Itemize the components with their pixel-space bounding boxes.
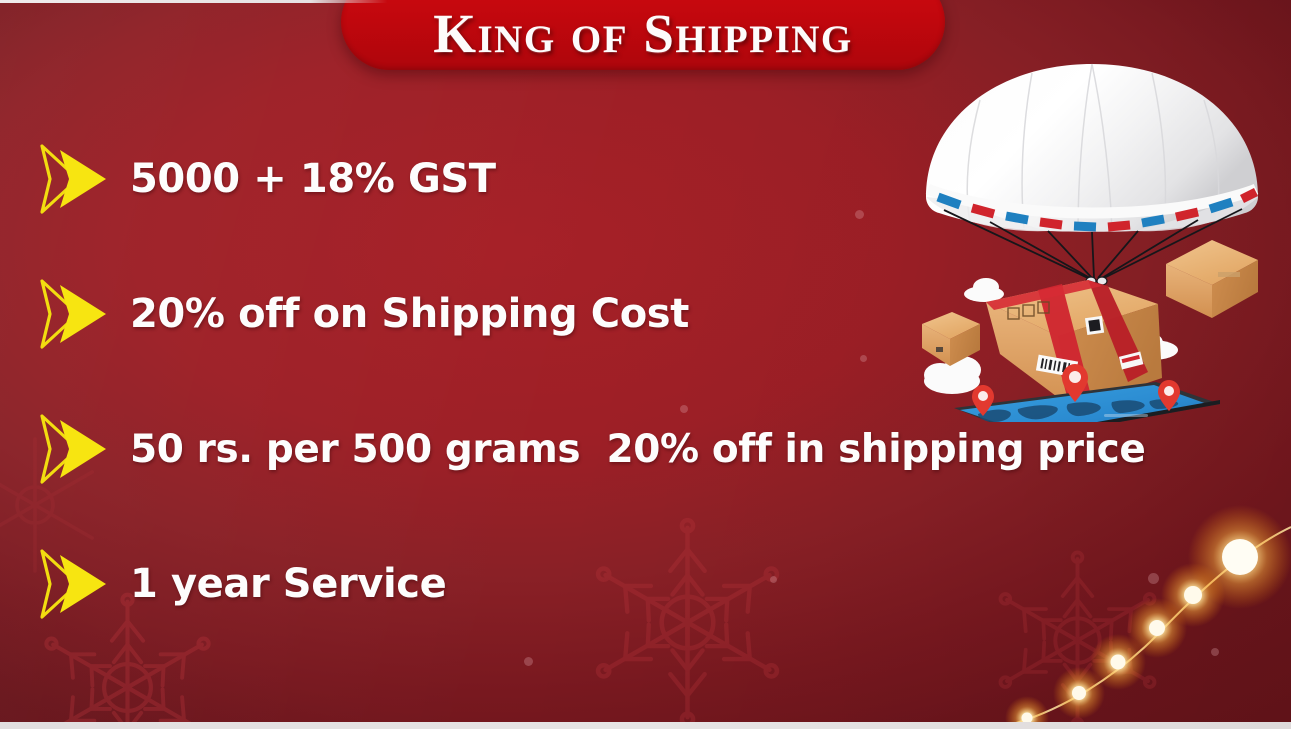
double-chevron-arrow-icon xyxy=(38,412,116,486)
offer-text: 5000 + 18% GST xyxy=(130,156,496,202)
decor-dot xyxy=(524,657,533,666)
cloud-center xyxy=(964,278,1004,302)
double-chevron-arrow-icon xyxy=(38,277,116,351)
decor-dot xyxy=(1211,648,1219,656)
double-chevron-arrow-icon xyxy=(38,142,116,216)
offer-text: 20% off on Shipping Cost xyxy=(130,291,689,337)
title-badge: King of Shipping xyxy=(341,0,945,70)
offer-text: 50 rs. per 500 grams 20% off in shipping… xyxy=(130,427,1145,472)
parachute-delivery-illustration xyxy=(912,52,1272,422)
bottom-edge-strip xyxy=(0,722,1291,729)
small-box-right xyxy=(1166,240,1258,318)
double-chevron-arrow-icon xyxy=(38,547,116,621)
page-title: King of Shipping xyxy=(433,6,853,61)
promo-banner: King of Shipping 5000 + 18% GST 20% off … xyxy=(0,0,1291,729)
top-edge-strip xyxy=(0,0,1291,3)
list-item: 50 rs. per 500 grams 20% off in shipping… xyxy=(38,412,1218,486)
offer-text: 1 year Service xyxy=(130,561,446,607)
list-item: 1 year Service xyxy=(38,547,1218,621)
